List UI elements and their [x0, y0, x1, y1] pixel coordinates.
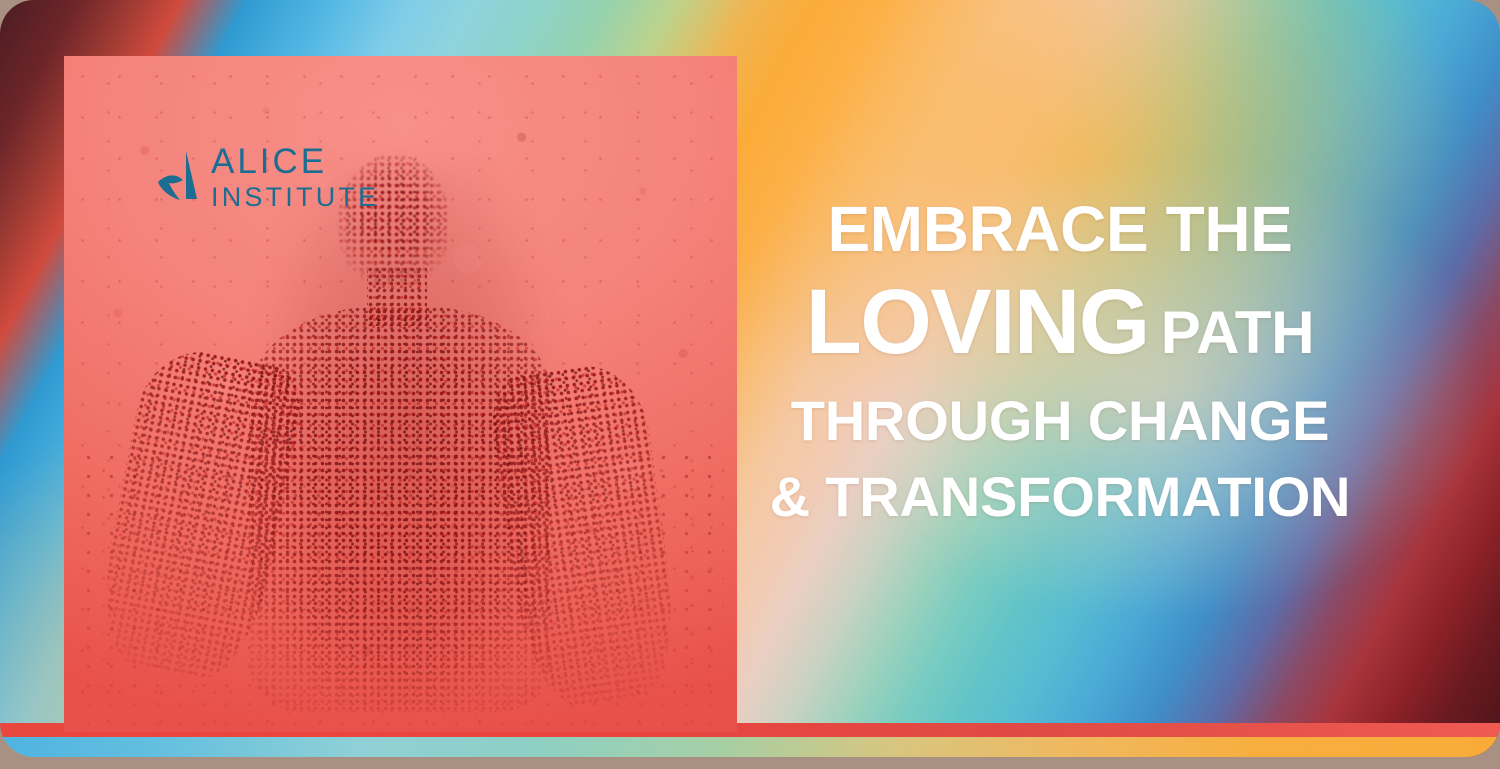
headline-line-2: LOVING PATH: [760, 275, 1360, 371]
headline-line2-rest: PATH: [1161, 302, 1315, 364]
headline-line-1: EMBRACE THE: [760, 196, 1360, 263]
bottom-accent-strip-cool: [0, 737, 1500, 757]
alice-bird-mark-icon: [156, 149, 200, 207]
headline-emphasis-word: LOVING: [806, 275, 1149, 371]
hero-image-panel: ALICE INSTITUTE: [64, 56, 737, 732]
headline-block: EMBRACE THE LOVING PATH THROUGH CHANGE &…: [760, 196, 1360, 527]
brand-subtitle: INSTITUTE: [211, 184, 379, 211]
brand-logo[interactable]: ALICE INSTITUTE: [156, 144, 379, 211]
brand-wordmark: ALICE INSTITUTE: [211, 144, 379, 211]
promo-banner-card: ALICE INSTITUTE EMBRACE THE LOVING PATH …: [0, 0, 1500, 757]
headline-line-4: & TRANSFORMATION: [760, 468, 1360, 526]
brand-name: ALICE: [211, 144, 379, 179]
headline-line-3: THROUGH CHANGE: [760, 392, 1360, 450]
figure-dissolve-spray: [77, 448, 723, 732]
